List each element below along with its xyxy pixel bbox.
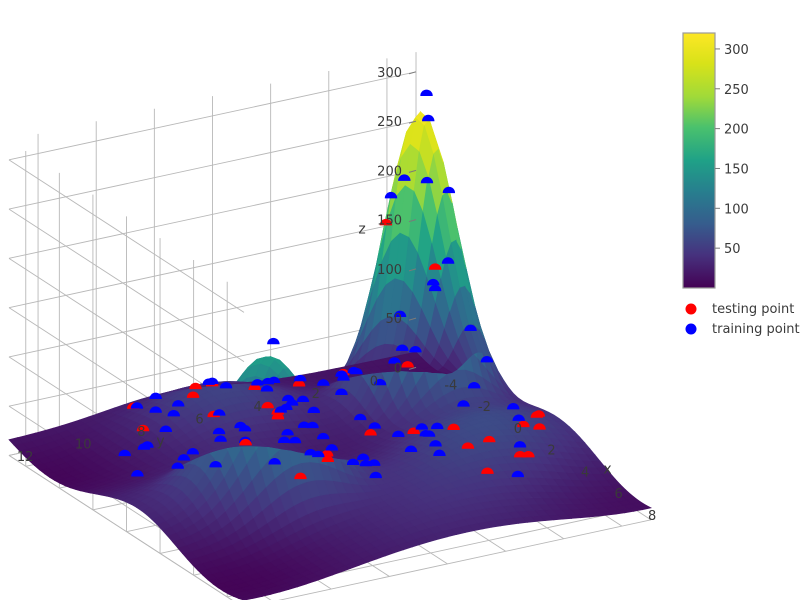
xtick-label: 2 [547,444,555,459]
colorbar-tick-label: 300 [724,43,749,58]
legend-marker-testing-point [686,304,697,315]
xtick-label: -4 [444,378,457,393]
colorbar-tick-label: 250 [724,83,749,98]
xtick-label: 8 [648,509,656,524]
ztick-label: 250 [377,115,402,130]
x-axis-title: x [603,462,611,478]
ytick-label: 12 [17,450,34,465]
ztick-label: 200 [377,164,402,179]
z-axis-title: z [358,222,365,238]
legend-marker-training-point [686,324,697,335]
colorbar-tick-label: 50 [724,242,741,257]
legend-label-testing-point: testing point [712,302,794,317]
ztick-label: 150 [377,214,402,229]
ytick-label: 10 [75,438,92,453]
xtick-label: 6 [615,487,623,502]
ztick-label: 50 [385,312,402,327]
ytick-label: 2 [312,387,320,402]
y-axis-title: y [156,433,164,449]
legend-label-training-point: training point [712,322,800,337]
ytick-label: 4 [253,400,261,415]
xtick-label: 0 [514,422,522,437]
colorbar-gradient [683,33,715,288]
colorbar-tick-label: 100 [724,202,749,217]
colorbar-tick-label: 150 [724,162,749,177]
ztick-label: 0 [394,361,402,376]
ztick-label: 300 [377,66,402,81]
ytick-label: 0 [370,375,378,390]
ytick-label: 6 [195,412,203,427]
xtick-label: 4 [581,465,589,480]
colorbar-tick-label: 200 [724,123,749,138]
surface-plot-figure: 050100150200250300024681012-4-202468zyx … [0,0,800,600]
ytick-label: 8 [137,425,145,440]
xtick-label: -2 [478,400,491,415]
ztick-label: 100 [377,263,402,278]
